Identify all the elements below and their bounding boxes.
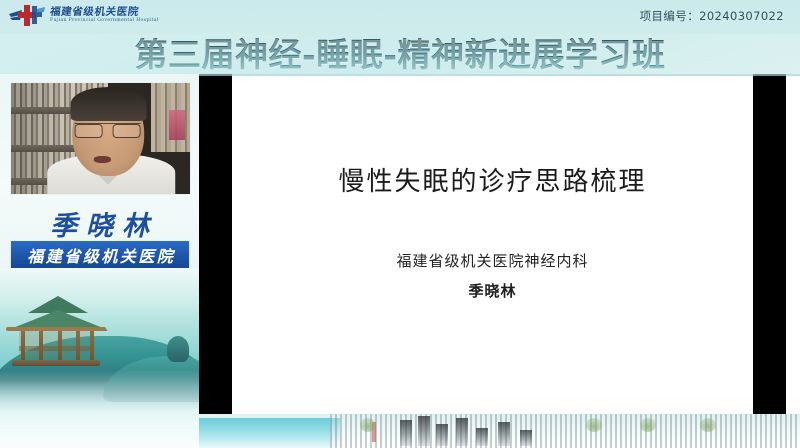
landscape-mist: [0, 370, 199, 448]
hospital-name-en: Fujian Provincial Governmental Hospital: [50, 19, 159, 24]
slide-letterbox-right: [753, 74, 786, 414]
slide-presenter: 季晓林: [468, 280, 516, 301]
slide-letterbox-left: [199, 74, 232, 414]
project-number: 项目编号：20240307022: [640, 8, 784, 24]
pavilion-base: [12, 360, 100, 366]
speaker-glasses: [74, 123, 140, 136]
course-title-band: 第三届神经-睡眠-精神新进展学习班: [0, 32, 800, 76]
ink-wash-pavilion-landscape-icon: [0, 268, 199, 448]
speaker-hospital-banner: 福建省级机关医院: [11, 241, 189, 269]
course-main-title: 第三届神经-睡眠-精神新进展学习班: [135, 38, 666, 71]
speaker-hospital-banner-text: 福建省级机关医院: [25, 243, 176, 267]
speaker-panel: 季晓林 福建省级机关医院: [0, 74, 199, 448]
speaker-name: 季晓林: [0, 204, 199, 243]
page-header: 福建省级机关医院 Fujian Provincial Governmental …: [0, 0, 800, 34]
slide-top-border: [199, 74, 800, 76]
slide-affiliation: 福建省级机关医院神经内科: [396, 250, 588, 271]
hospital-cross-wings-logo-icon: [8, 3, 46, 28]
livestream-screen: 福建省级机关医院 Fujian Provincial Governmental …: [0, 0, 800, 448]
slide-content: 慢性失眠的诊疗思路梳理 福建省级机关医院神经内科 季晓林: [232, 74, 753, 414]
pavilion-railing: [19, 346, 93, 351]
hospital-logo: 福建省级机关医院 Fujian Provincial Governmental …: [8, 3, 159, 28]
slide-title: 慢性失眠的诊疗思路梳理: [338, 161, 646, 198]
pink-decoration: [169, 110, 185, 140]
presentation-slide[interactable]: 慢性失眠的诊疗思路梳理 福建省级机关医院神经内科 季晓林: [199, 74, 800, 414]
pavilion-body: [19, 331, 93, 359]
speaker-video-feed[interactable]: [10, 82, 191, 195]
hospital-name-cn: 福建省级机关医院: [49, 7, 159, 18]
speaker-mouth: [93, 156, 110, 163]
landscape-rock: [167, 336, 189, 362]
hospital-logo-text: 福建省级机关医院 Fujian Provincial Governmental …: [50, 7, 159, 24]
speaker-hair: [70, 87, 146, 121]
pavilion-illustration: [6, 296, 110, 366]
